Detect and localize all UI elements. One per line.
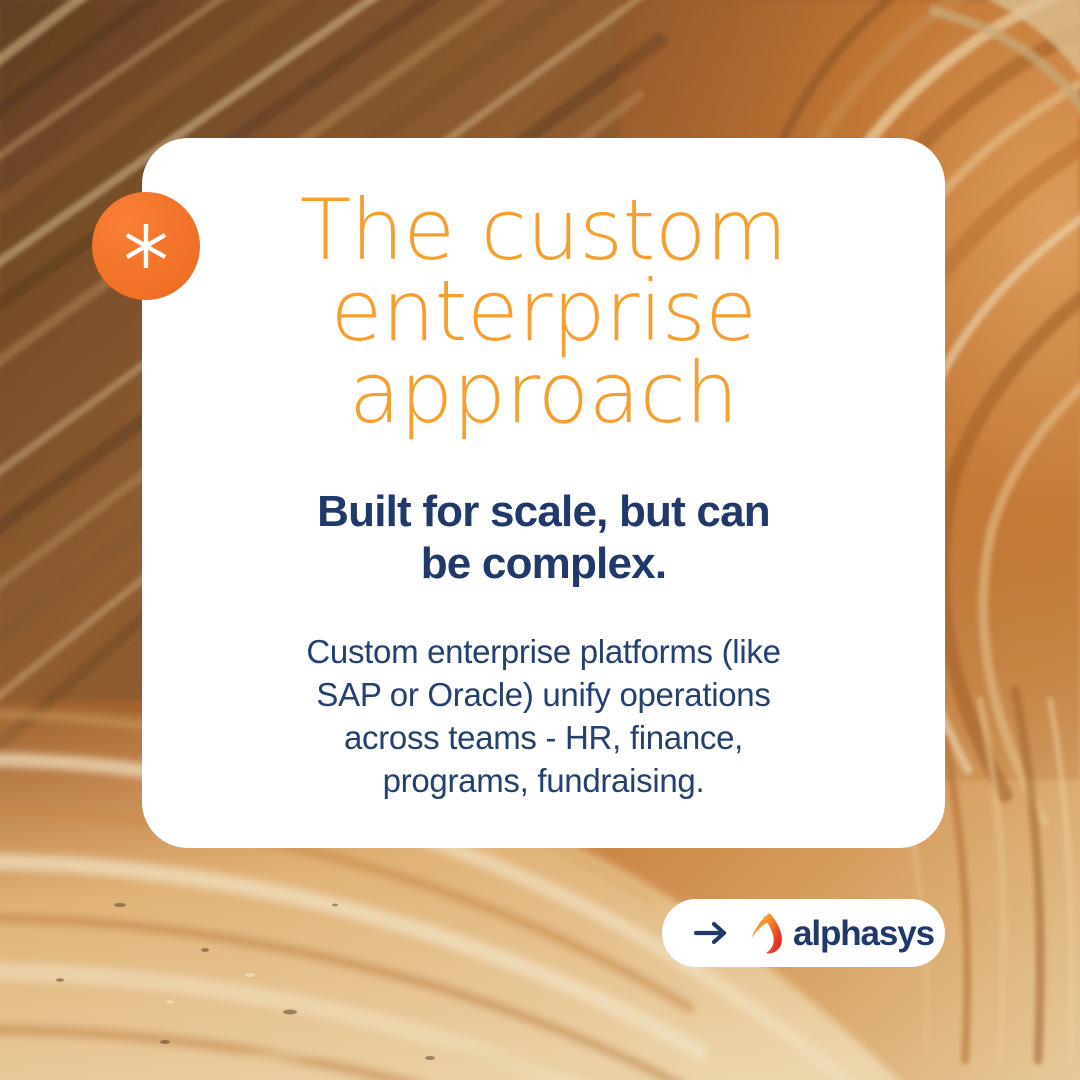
card-content: The custom enterprise approach Built for… xyxy=(142,138,945,848)
page-title: The custom enterprise approach xyxy=(186,190,901,434)
subheading: Built for scale, but can be complex. xyxy=(317,486,770,589)
brand-name: alphasys xyxy=(793,916,934,951)
content-card: The custom enterprise approach Built for… xyxy=(142,138,945,848)
slide-canvas: The custom enterprise approach Built for… xyxy=(0,0,1080,1080)
body-paragraph: Custom enterprise platforms (like SAP or… xyxy=(306,631,780,803)
brand-lockup: alphasys xyxy=(748,911,934,955)
arrow-right-icon xyxy=(694,920,730,946)
brand-pill[interactable]: alphasys xyxy=(662,899,945,967)
alphasys-crescent-icon xyxy=(748,911,786,955)
